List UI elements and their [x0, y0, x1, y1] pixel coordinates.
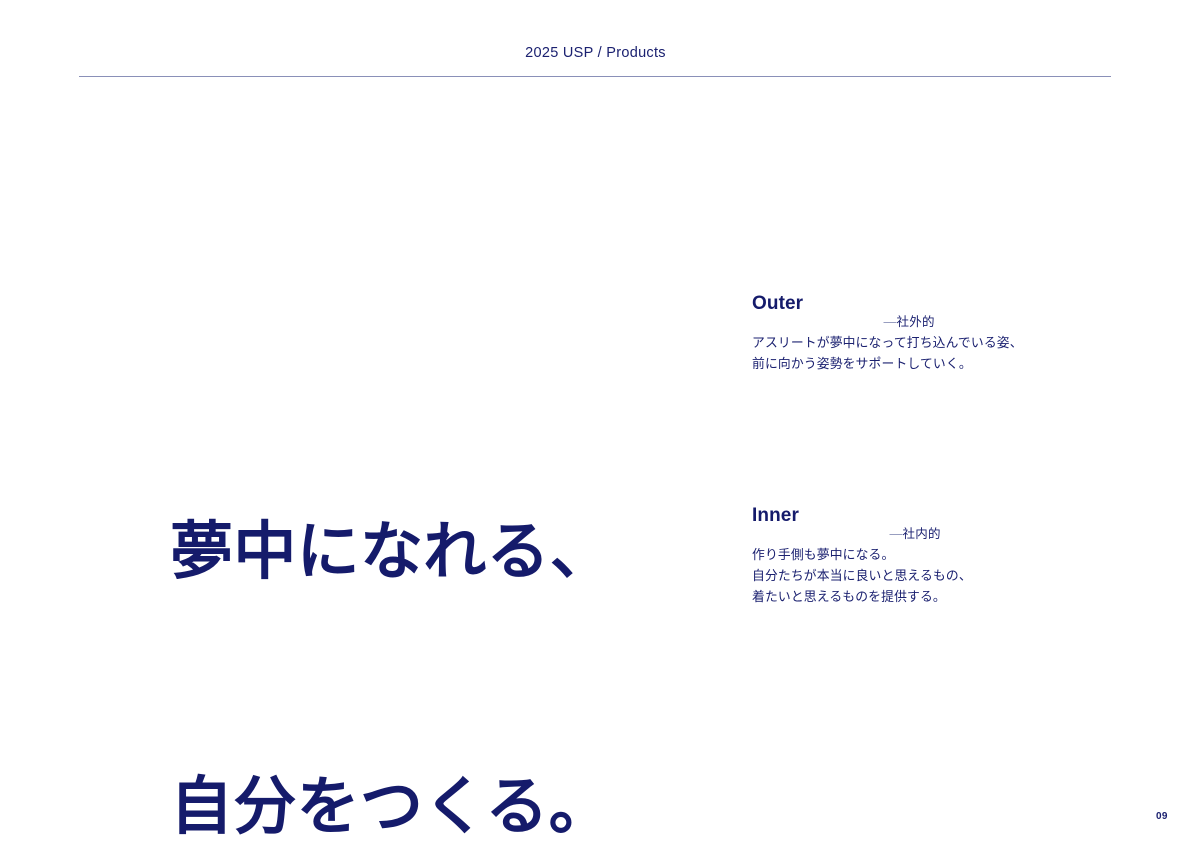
usp-body-line: 前に向かう姿勢をサポートしていく。 — [752, 353, 1082, 374]
usp-block-inner: Inner —社内的 作り手側も夢中になる。 自分たちが本当に良いと思えるもの、… — [752, 504, 1082, 607]
slide-header-title: 2025 USP / Products — [0, 45, 1191, 61]
headline: 夢中になれる、 自分をつくる。 — [170, 340, 640, 843]
usp-label-group-inner: —社内的 — [845, 507, 941, 561]
usp-heading-row-inner: Inner —社内的 — [752, 504, 1082, 530]
usp-column: Outer —社外的 アスリートが夢中になって打ち込んでいる姿、 前に向かう姿勢… — [752, 292, 1082, 607]
headline-line-2: 自分をつくる。 — [170, 765, 640, 843]
em-dash-icon: — — [883, 314, 896, 329]
usp-term-inner: Inner — [752, 504, 799, 527]
usp-jp-label-outer: 社外的 — [896, 315, 934, 329]
usp-block-outer: Outer —社外的 アスリートが夢中になって打ち込んでいる姿、 前に向かう姿勢… — [752, 292, 1082, 374]
usp-heading-row-outer: Outer —社外的 — [752, 292, 1082, 318]
usp-jp-label-inner: 社内的 — [902, 527, 940, 541]
em-dash-icon: — — [889, 526, 902, 541]
slide-canvas: 2025 USP / Products 夢中になれる、 自分をつくる。 Oute… — [0, 0, 1191, 843]
usp-label-group-outer: —社外的 — [839, 295, 935, 349]
page-number: 09 — [1156, 811, 1180, 822]
header-divider-rule — [79, 76, 1111, 77]
usp-body-line: 自分たちが本当に良いと思えるもの、 — [752, 565, 1082, 586]
usp-term-outer: Outer — [752, 292, 803, 315]
headline-line-1: 夢中になれる、 — [170, 510, 640, 595]
usp-body-line: 着たいと思えるものを提供する。 — [752, 586, 1082, 607]
